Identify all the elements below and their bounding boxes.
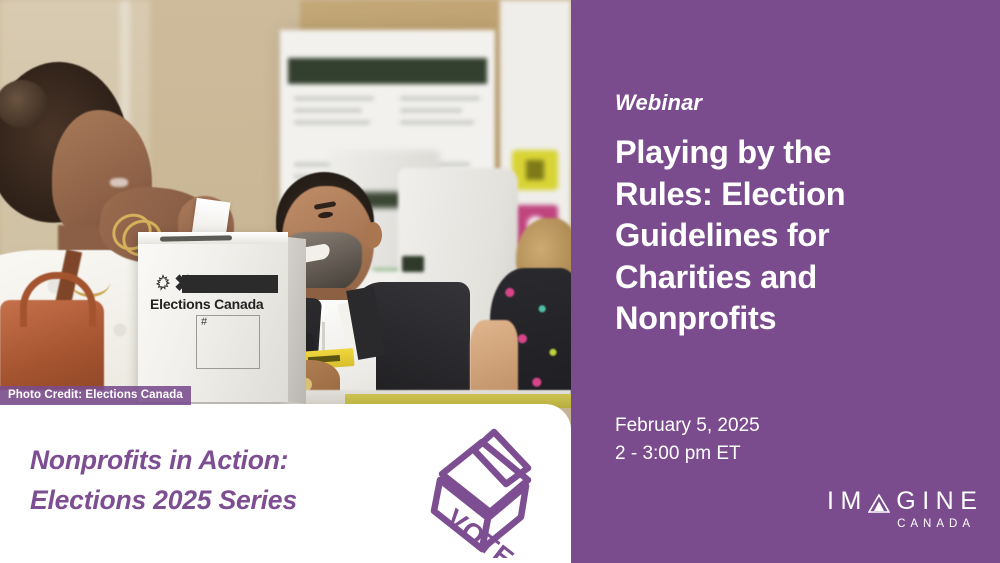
event-time: 2 - 3:00 pm ET [615, 440, 760, 468]
maple-leaf-icon [154, 274, 172, 292]
logo-wordmark: IM GINE [827, 487, 977, 515]
logo-subtitle: CANADA [897, 518, 975, 530]
series-title-line-2: Elections 2025 Series [30, 480, 420, 520]
ballot-box-side [288, 237, 306, 404]
ballot-box-number-symbol: # [201, 316, 207, 328]
event-date: February 5, 2025 [615, 412, 760, 440]
event-datetime: February 5, 2025 2 - 3:00 pm ET [615, 412, 760, 468]
ballot-box-vote-icon: VOTE [424, 418, 564, 558]
logo-word-part-2: GINE [896, 488, 983, 514]
event-title: Playing by the Rules: Election Guideline… [615, 132, 935, 340]
event-type-kicker: Webinar [615, 90, 702, 116]
imagine-canada-logo: IM GINE CANADA [827, 487, 977, 537]
elections-canada-logo: ✖ [152, 272, 278, 296]
ballot-box-brand-label: Elections Canada [150, 296, 264, 312]
logo-word-part-1: IM [827, 488, 868, 514]
logo-bar [182, 275, 278, 293]
logo-x-glyph: ✖ [174, 272, 193, 295]
poll-worker-ear [364, 222, 382, 248]
triangle-a-icon [868, 492, 890, 511]
webinar-promo-graphic: ✖ Elections Canada # Photo Credit: Elect… [0, 0, 1000, 563]
info-panel: Webinar Playing by the Rules: Election G… [571, 0, 1000, 563]
poster-header-bar [288, 58, 487, 84]
series-title-line-1: Nonprofits in Action: [30, 440, 420, 480]
series-title: Nonprofits in Action: Elections 2025 Ser… [30, 440, 420, 520]
photo-credit-badge: Photo Credit: Elections Canada [0, 386, 191, 405]
